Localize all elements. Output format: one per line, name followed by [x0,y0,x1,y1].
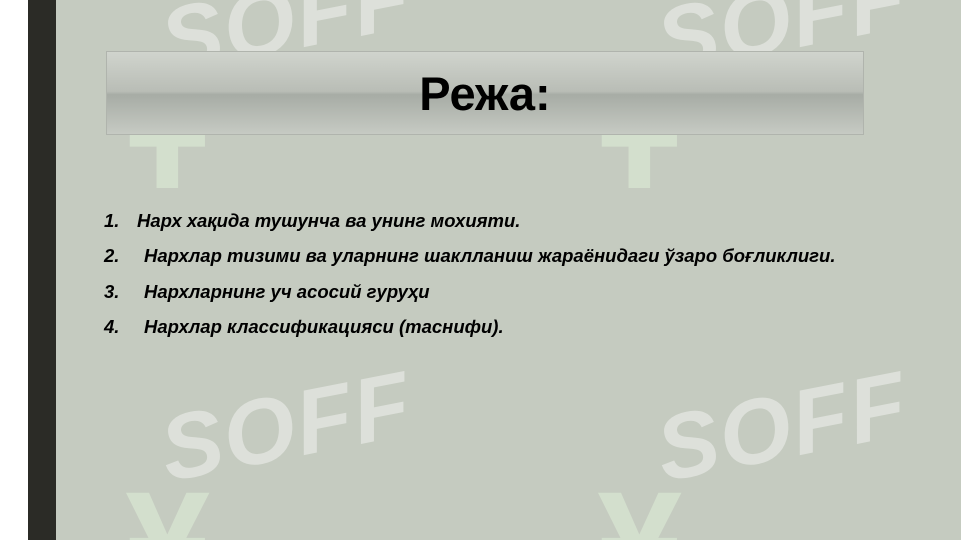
watermark-logo-glyph: Ұ [126,458,209,540]
agenda-list: 1. Нарх хақида тушунча ва унинг мохияти.… [104,209,864,351]
watermark-text: SOFF [152,352,421,503]
list-item-text: Нархлар тизими ва уларнинг шаклланиш жар… [137,244,864,268]
list-item: 4. Нархлар классификацияси (таснифи). [104,315,864,339]
list-item-number: 4. [104,315,137,339]
left-dark-accent-bar [28,0,56,540]
watermark-logo-glyph: Ұ [598,458,681,540]
watermark-text: SOFF [648,352,917,503]
list-item-number: 1. [104,209,137,233]
list-item: 1. Нарх хақида тушунча ва унинг мохияти. [104,209,864,233]
title-banner: Режа: [106,51,864,135]
list-item-number: 2. [104,244,137,268]
slide-title: Режа: [419,70,550,117]
list-item: 2. Нархлар тизими ва уларнинг шаклланиш … [104,244,864,268]
list-item-text: Нархларнинг уч асосий гуруҳи [137,280,864,304]
left-white-accent-bar [0,0,28,540]
list-item-number: 3. [104,280,137,304]
list-item: 3. Нархларнинг уч асосий гуруҳи [104,280,864,304]
list-item-text: Нарх хақида тушунча ва унинг мохияти. [137,209,864,233]
list-item-text: Нархлар классификацияси (таснифи). [137,315,864,339]
presentation-slide: SOFF SOFF SOFF SOFF Ұ Ұ Ұ Ұ Режа: 1. Нар… [0,0,961,540]
